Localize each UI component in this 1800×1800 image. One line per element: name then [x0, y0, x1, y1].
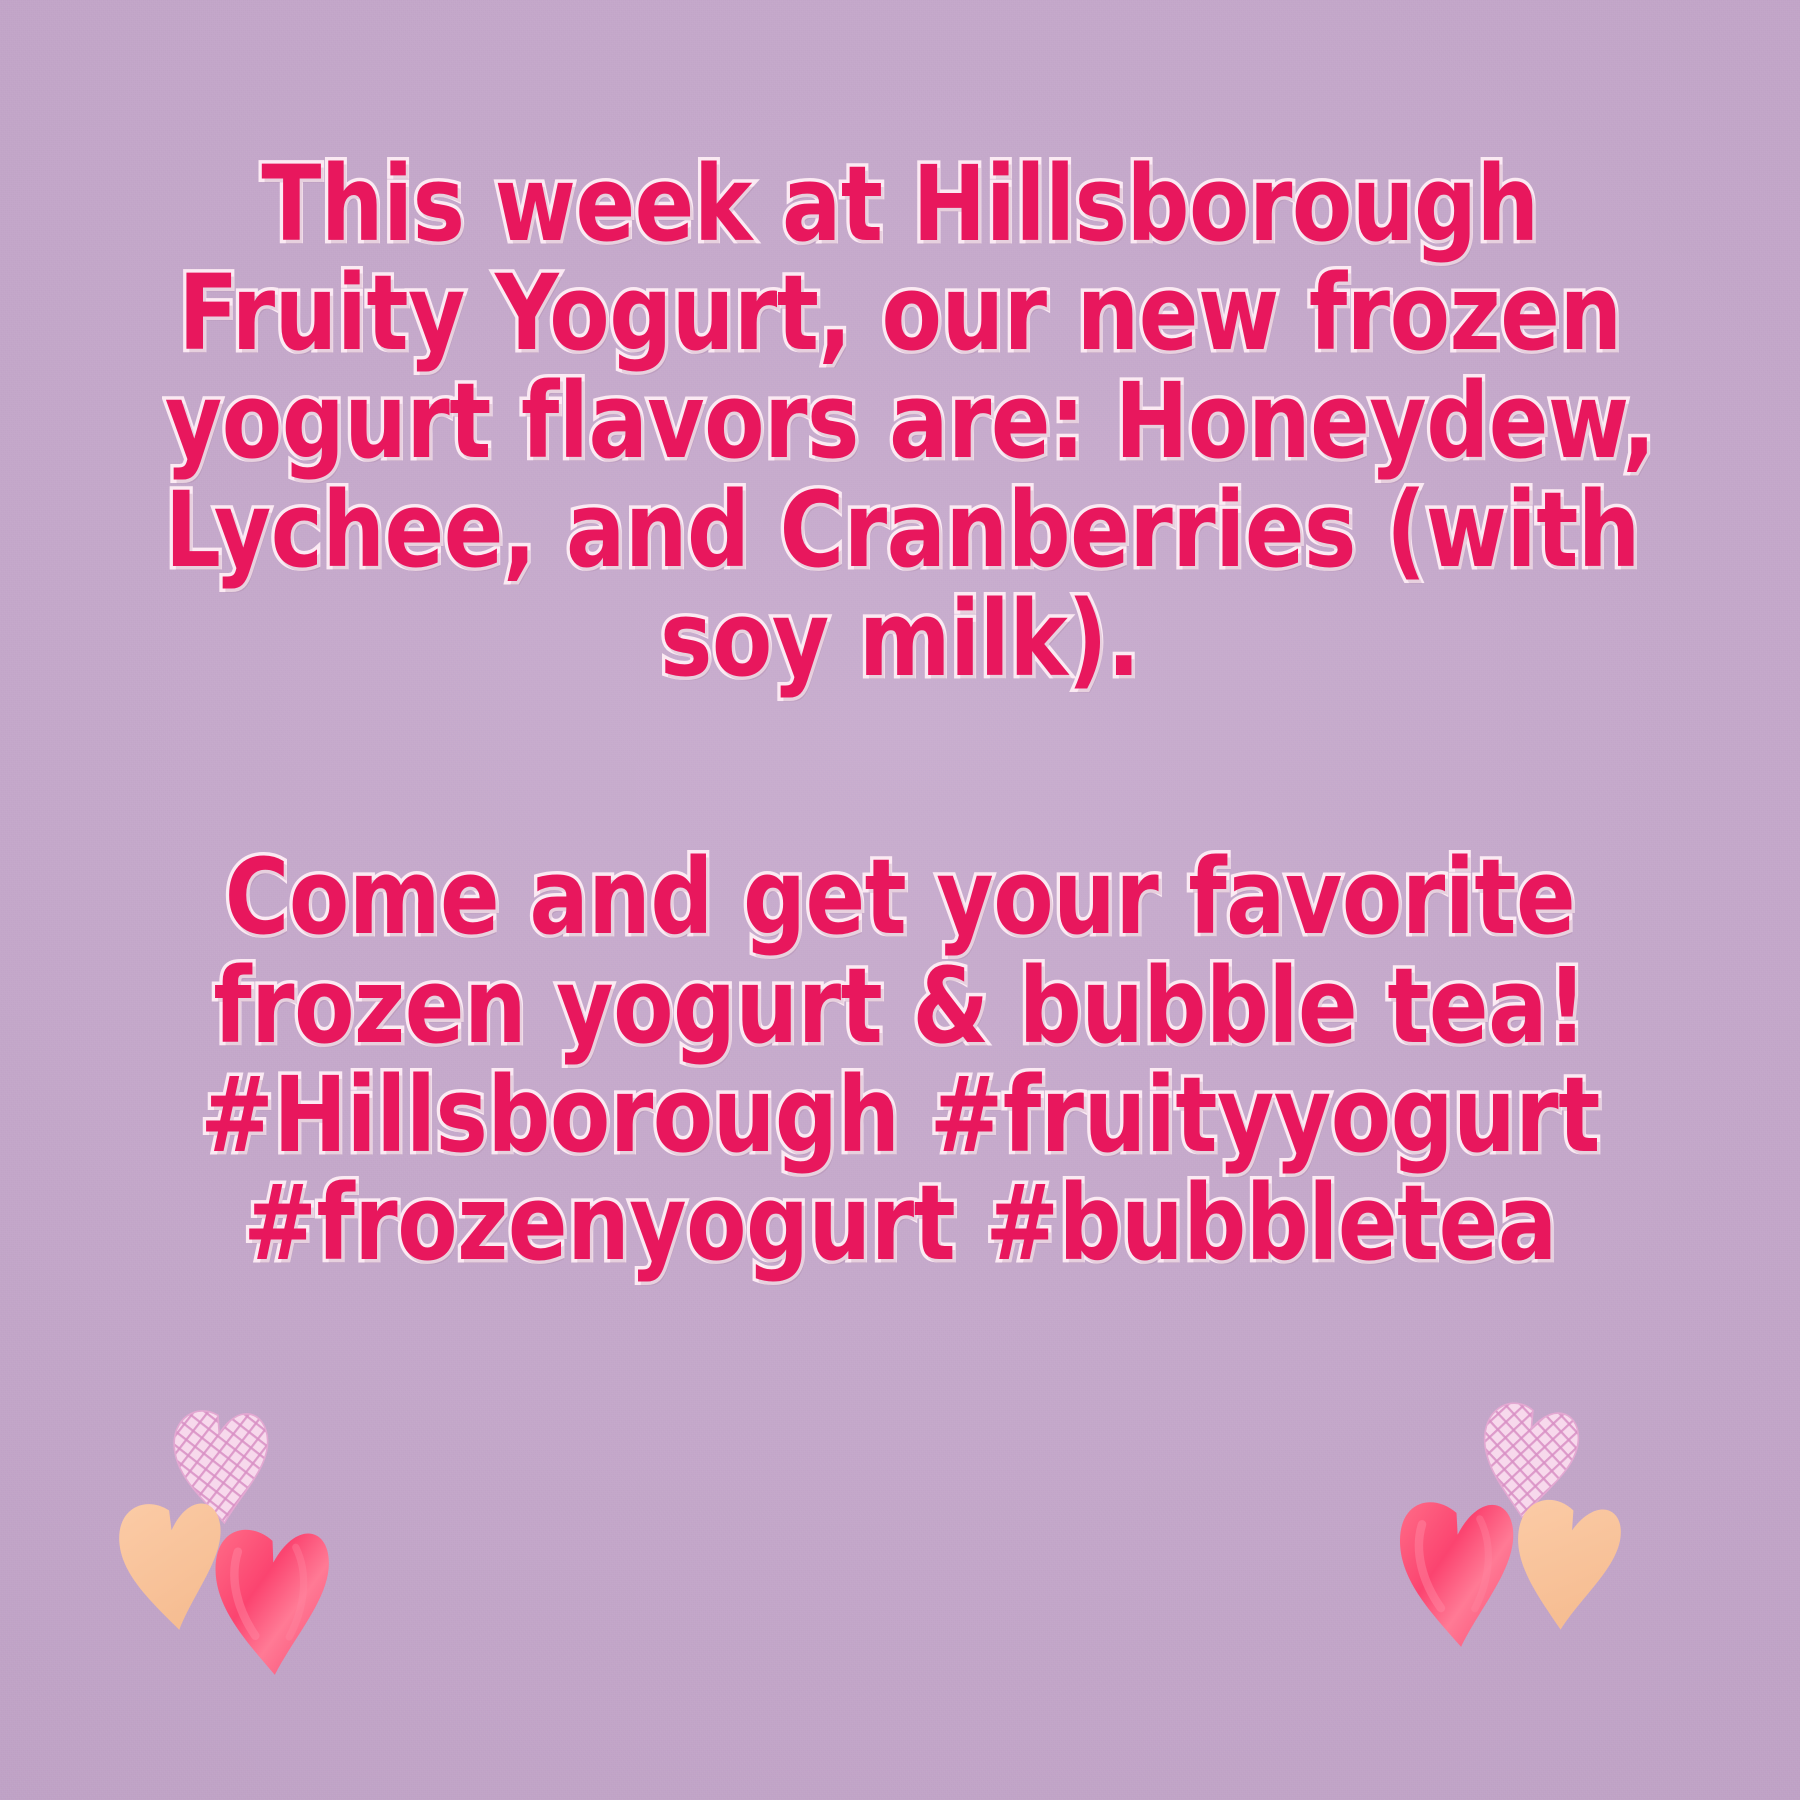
heart-icon-peach-left — [109, 1484, 238, 1645]
social-media-poster: This week at Hillsborough Fruity Yogurt,… — [0, 0, 1800, 1800]
hashtag-line: #frozenyogurt #bubbletea — [165, 1169, 1635, 1278]
hashtag-line: #Hillsborough #fruityyogurt — [165, 1061, 1635, 1170]
text-line: Come and get your favorite — [165, 843, 1635, 952]
text-line: Fruity Yogurt, our new frozen — [165, 259, 1635, 368]
text-line: Lychee, and Cranberries (with — [165, 476, 1635, 585]
paragraph-call-to-action: Come and get your favorite frozen yogurt… — [165, 843, 1635, 1278]
heart-icon-checkered-right — [1470, 1396, 1588, 1527]
heart-icon-peach-right — [1507, 1486, 1629, 1641]
heart-icon-coral-left — [210, 1518, 338, 1682]
text-line: soy milk). — [165, 585, 1635, 694]
heart-icon-checkered-left — [164, 1401, 280, 1530]
poster-text-container: This week at Hillsborough Fruity Yogurt,… — [0, 150, 1800, 1278]
text-line: yogurt flavors are: Honeydew, — [165, 367, 1635, 476]
text-line: frozen yogurt & bubble tea! — [165, 952, 1635, 1061]
paragraph-announcement: This week at Hillsborough Fruity Yogurt,… — [165, 150, 1635, 693]
heart-icon-coral-right — [1394, 1489, 1524, 1655]
text-line: This week at Hillsborough — [165, 150, 1635, 259]
